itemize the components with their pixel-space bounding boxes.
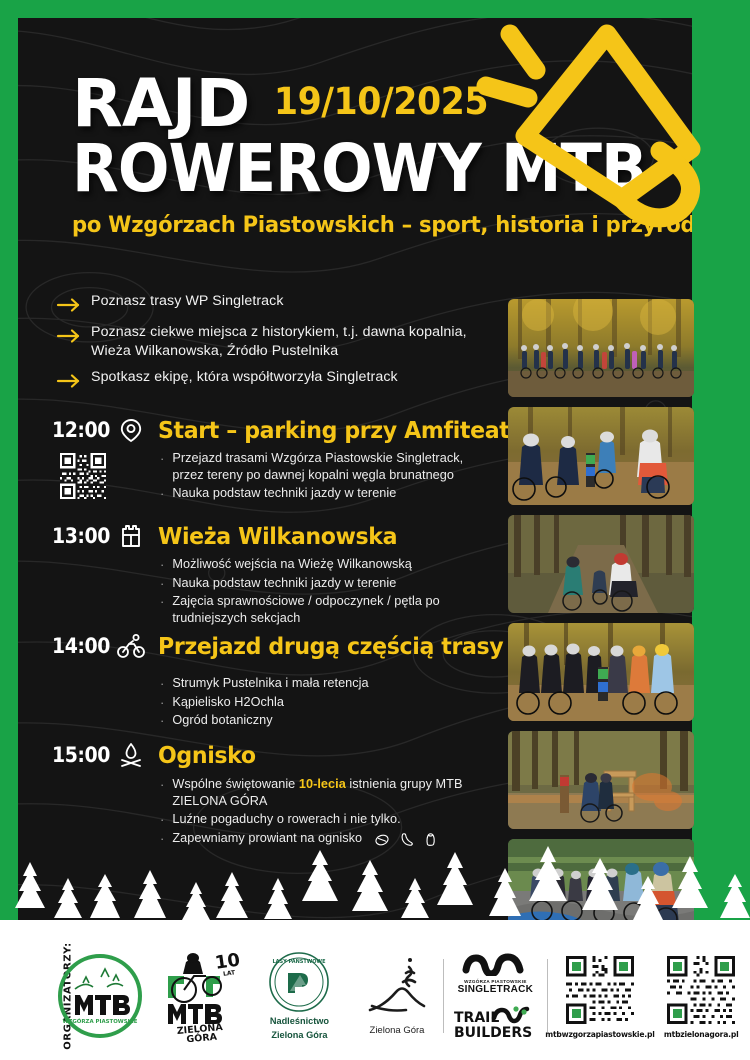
highlights-list: Poznasz trasy WP Singletrack Poznasz cie… [56, 292, 476, 399]
schedule-time: 12:00 [52, 418, 110, 442]
schedule-header: 15:00 Ognisko [52, 740, 482, 770]
sausage-icon [399, 833, 415, 847]
logo-caption: Zielona Góra [370, 1025, 425, 1036]
qr-mtbzielonagora[interactable]: mtbzielonagora.pl [652, 953, 750, 1039]
schedule-bullets: · Wspólne świętowanie 10-lecia istnienia… [160, 776, 482, 847]
bullet-text: Ogród botaniczny [172, 712, 272, 729]
bullet-text: Strumyk Pustelnika i mała retencja [172, 675, 368, 692]
schedule-title: Start – parking przy Amfiteatrze [158, 416, 547, 444]
photo-group-trail-marker [508, 623, 694, 721]
list-item: · Możliwość wejścia na Wieżę Wilkanowską [160, 556, 482, 574]
bullet-text: Luźne pogaduchy o rowerach i nie tylko. [172, 811, 400, 828]
map-pin-icon [116, 415, 146, 445]
qr-code-start-location[interactable] [60, 453, 106, 499]
schedule-title: Przejazd drugą częścią trasy [158, 632, 503, 660]
schedule-item: 13:00 Wieża Wilkanowska · Możliwość wejś… [52, 521, 482, 627]
title-row-1: RAJD19/10/2025 [72, 74, 632, 135]
list-item: · Zajęcia sprawnościowe / odpoczynek / p… [160, 593, 482, 627]
photo-group-autumn-forest [508, 299, 694, 397]
lasy-panstwowe-logo: LASY PAŃSTWOWE Nadleśnictwo Zielona Góra [248, 951, 350, 1041]
schedule-item: 12:00 Start – parking przy Amfiteatrze [52, 415, 482, 515]
photo-pumptrack-group [508, 839, 694, 937]
list-item: Spotkasz ekipę, która współtworzyła Sing… [56, 368, 476, 391]
arrow-right-icon [56, 295, 82, 315]
photo-strip [508, 299, 694, 947]
highlight-text: Spotkasz ekipę, która współtworzyła Sing… [91, 368, 398, 387]
schedule-title: Wieża Wilkanowska [158, 522, 397, 550]
bullet-emphasis: 10-lecia [299, 777, 346, 791]
list-item: Poznasz ciekwe miejsca z historykiem, t.… [56, 323, 476, 360]
schedule-time: 15:00 [52, 743, 110, 767]
bullet-text: Nauka podstaw techniki jazdy w terenie [172, 485, 396, 502]
schedule-item: 14:00 Przejazd drugą częścią trasy · Str… [52, 631, 482, 736]
bullet-dot: · [160, 556, 164, 574]
qr-caption: mtbwzgorzapiastowskie.pl [545, 1030, 654, 1039]
bullet-dot: · [160, 485, 164, 503]
bullet-dot: · [160, 694, 164, 712]
svg-text:LASY PAŃSTWOWE: LASY PAŃSTWOWE [273, 957, 327, 965]
photo-riders-pine-path [508, 515, 694, 613]
cyclist-icon [116, 631, 146, 661]
arrow-right-icon [56, 326, 82, 346]
highlight-text: Poznasz trasy WP Singletrack [91, 292, 284, 311]
bread-icon [424, 833, 438, 847]
arrow-right-icon [56, 371, 82, 391]
footer: ORGANIZATORZY: WZGÓRZA PIAS [0, 932, 750, 1060]
bullet-dot: · [160, 811, 164, 829]
list-item: · Wspólne świętowanie 10-lecia istnienia… [160, 776, 482, 810]
page-subtitle: po Wzgórzach Piastowskich – sport, histo… [72, 212, 598, 238]
bullet-dot: · [160, 830, 164, 848]
schedule-title: Ognisko [158, 741, 256, 769]
svg-text:BUILDERS: BUILDERS [454, 1025, 532, 1041]
list-item: · Nauka podstaw techniki jazdy w terenie [160, 575, 482, 593]
schedule-list: 12:00 Start – parking przy Amfiteatrze [52, 415, 482, 851]
food-icon-group [374, 833, 438, 847]
tower-icon [116, 521, 146, 551]
logo-caption-line1: Nadleśnictwo [270, 1016, 329, 1027]
schedule-bullets: · Przejazd trasami Wzgórza Piastowskie S… [160, 450, 482, 503]
marshmallow-icon [374, 833, 390, 847]
mtb-wzgorza-piastowskie-logo: WZGÓRZA PIASTOWSKIE [44, 953, 155, 1039]
bullet-text: Zapewniamy prowiant na ognisko [172, 830, 362, 847]
bullet-dot: · [160, 450, 164, 468]
photo-riders-trail-sign [508, 407, 694, 505]
list-item: · Przejazd trasami Wzgórza Piastowskie S… [160, 450, 482, 484]
singletrack-trailbuilders-group: WZGÓRZA PIASTOWSKIE SINGLETRACK TRAIL BU… [444, 950, 546, 1043]
logo-caption: SINGLETRACK [458, 984, 534, 996]
photo-wooden-obstacle [508, 731, 694, 829]
bullet-text: Przejazd trasami Wzgórza Piastowskie Sin… [172, 450, 482, 484]
campfire-icon [116, 740, 146, 770]
schedule-header: 14:00 Przejazd drugą częścią trasy [52, 631, 482, 661]
bullet-text: Wspólne świętowanie 10-lecia istnienia g… [172, 776, 482, 810]
bullet-dot: · [160, 776, 164, 794]
qr-mtbwzgorzapiastowskie[interactable]: mtbwzgorzapiastowskie.pl [547, 953, 652, 1039]
schedule-item: 15:00 Ognisko · Wspólne świętowanie 10-l… [52, 740, 482, 847]
svg-text:WZGÓRZA PIASTOWSKIE: WZGÓRZA PIASTOWSKIE [62, 1018, 137, 1025]
headline-block: RAJD19/10/2025 ROWEROWY MTB po Wzgórzach… [72, 74, 632, 238]
wzgorza-piastowskie-singletrack-logo: WZGÓRZA PIASTOWSKIE SINGLETRACK [458, 950, 534, 997]
list-item: · Ogród botaniczny [160, 712, 482, 730]
logo-row: WZGÓRZA PIASTOWSKIE [44, 932, 750, 1060]
bullet-text: Zajęcia sprawnościowe / odpoczynek / pęt… [172, 593, 482, 627]
svg-text:LAT: LAT [223, 969, 237, 978]
logo-caption-line2: Zielona Góra [271, 1030, 327, 1041]
event-date: 19/10/2025 [274, 80, 488, 123]
bullet-text: Nauka podstaw techniki jazdy w terenie [172, 575, 396, 592]
poster-root: RAJD19/10/2025 ROWEROWY MTB po Wzgórzach… [0, 0, 750, 1060]
highlight-text: Poznasz ciekwe miejsca z historykiem, t.… [91, 323, 476, 360]
schedule-bullets: · Możliwość wejścia na Wieżę Wilkanowską… [160, 556, 482, 627]
schedule-header: 13:00 Wieża Wilkanowska [52, 521, 482, 551]
schedule-bullets: · Strumyk Pustelnika i mała retencja · K… [160, 675, 482, 730]
bullet-dot: · [160, 712, 164, 730]
list-item: · Zapewniamy prowiant na ognisko [160, 830, 482, 848]
list-item: · Nauka podstaw techniki jazdy w terenie [160, 485, 482, 503]
page-title-line2: ROWEROWY MTB [72, 139, 587, 200]
schedule-time: 13:00 [52, 524, 110, 548]
qr-caption: mtbzielonagora.pl [664, 1030, 739, 1039]
zielona-gora-city-logo: Zielona Góra [351, 956, 444, 1036]
list-item: · Luźne pogaduchy o rowerach i nie tylko… [160, 811, 482, 829]
bullet-dot: · [160, 675, 164, 693]
list-item: · Strumyk Pustelnika i mała retencja [160, 675, 482, 693]
schedule-time: 14:00 [52, 634, 110, 658]
bullet-dot: · [160, 593, 164, 611]
bullet-text: Kąpielisko H2Ochla [172, 694, 284, 711]
bullet-dot: · [160, 575, 164, 593]
bullet-text: Możliwość wejścia na Wieżę Wilkanowską [172, 556, 412, 573]
list-item: Poznasz trasy WP Singletrack [56, 292, 476, 315]
mtb-zielona-gora-10lat-logo: 10 LAT ZIELONA GÓRA [155, 950, 248, 1042]
schedule-header: 12:00 Start – parking przy Amfiteatrze [52, 415, 482, 445]
trail-builders-logo: TRAIL BUILDERS [452, 1006, 538, 1042]
list-item: · Kąpielisko H2Ochla [160, 694, 482, 712]
